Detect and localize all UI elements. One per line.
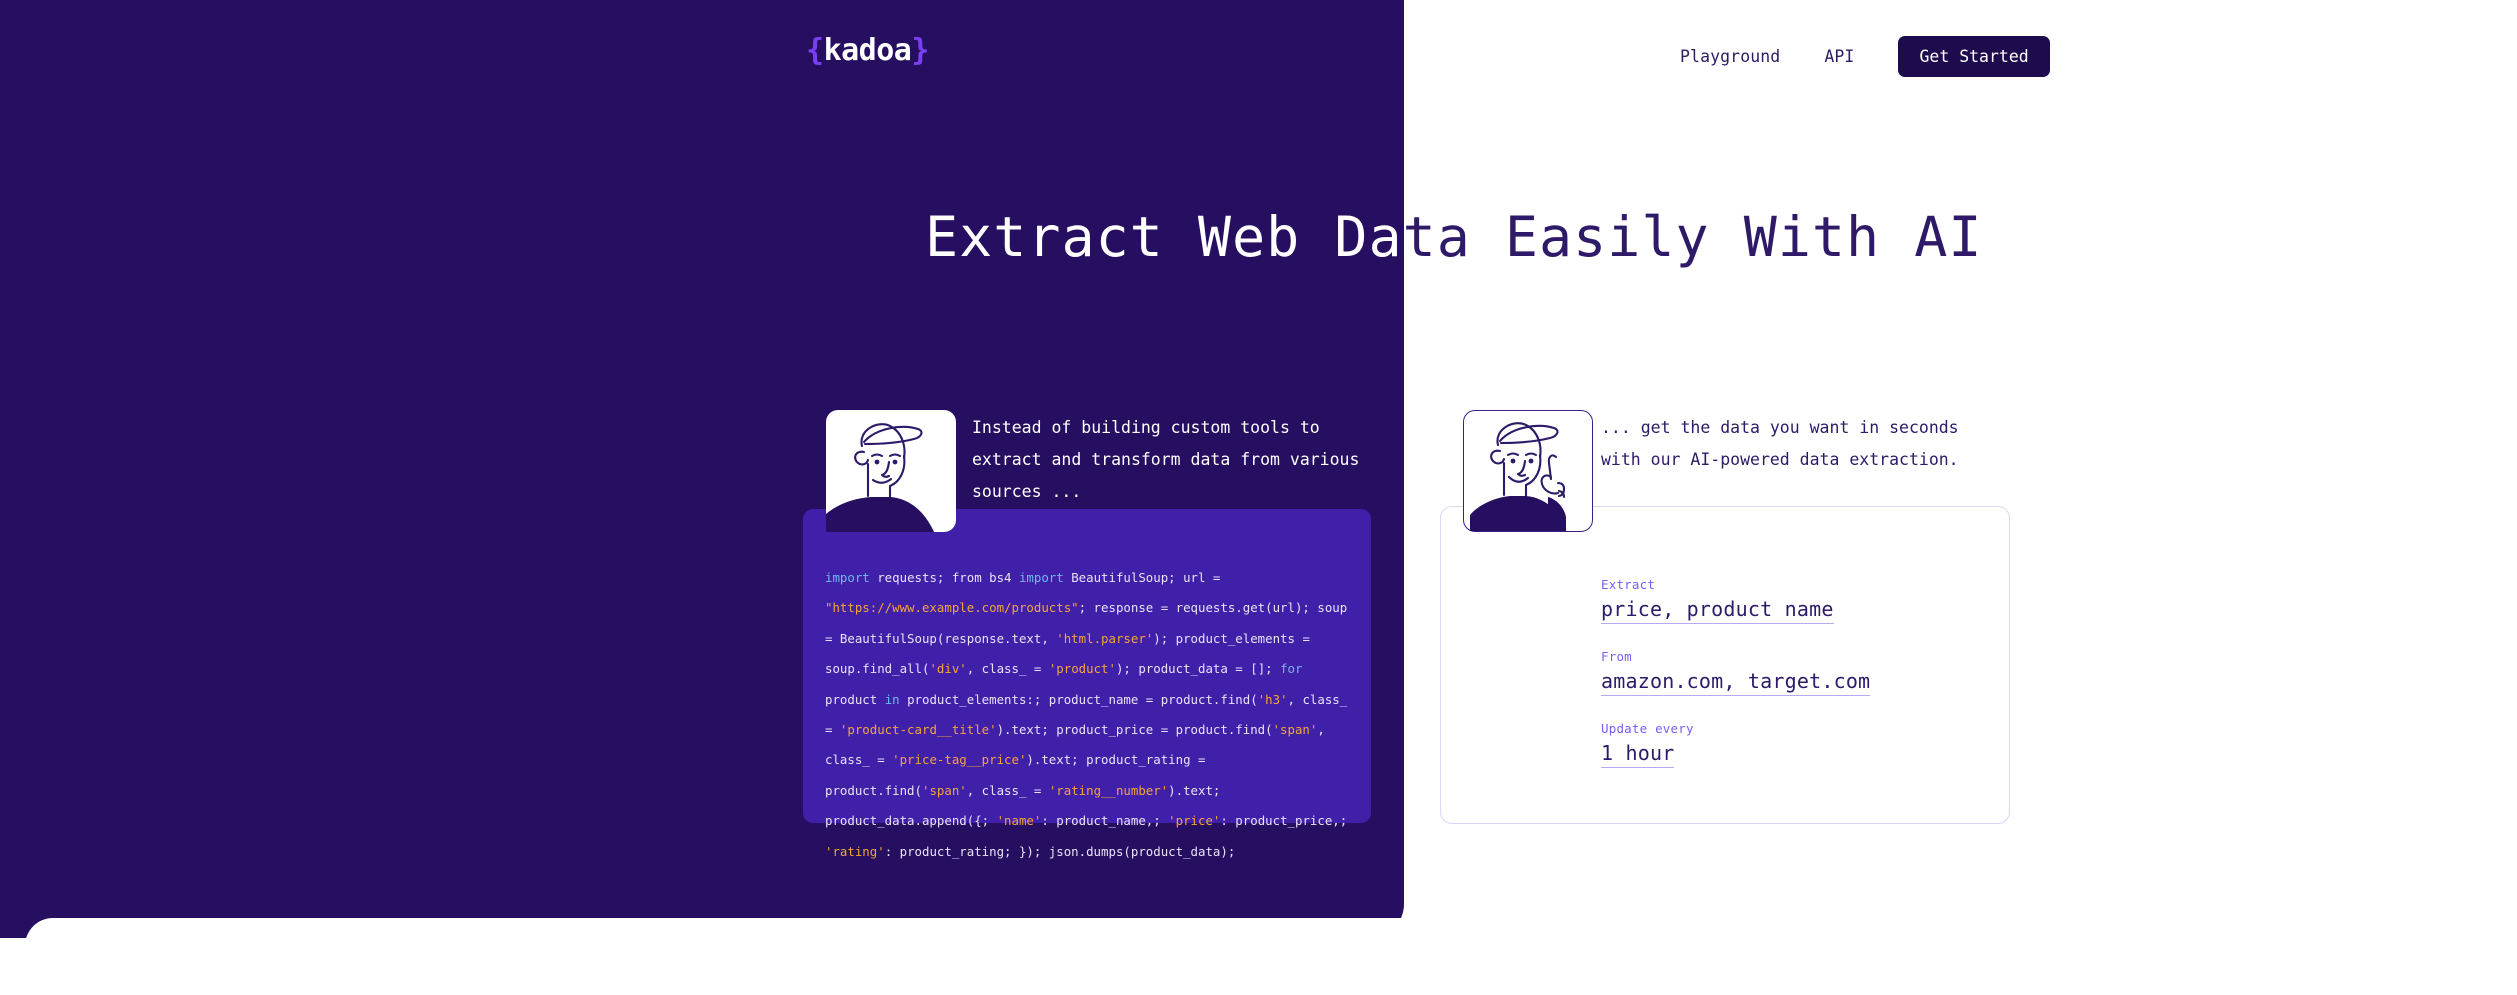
main-navigation: Playground API Get Started bbox=[1680, 36, 2050, 77]
after-caption: ... get the data you want in seconds wit… bbox=[1601, 412, 2001, 476]
before-panel: {kadoa} Extract Web Data Easily With AI bbox=[0, 0, 1404, 938]
get-started-button[interactable]: Get Started bbox=[1898, 36, 2049, 77]
nav-link-api[interactable]: API bbox=[1824, 47, 1854, 66]
field-extract: Extract price, product name bbox=[1601, 577, 1870, 624]
page-bottom-sheet bbox=[25, 918, 2517, 995]
code-snippet-text: import requests; from bs4 import Beautif… bbox=[825, 563, 1349, 867]
person-with-cap-neutral-icon bbox=[826, 410, 956, 532]
illustration-pointing bbox=[1463, 410, 1593, 532]
person-with-cap-pointing-icon bbox=[1464, 411, 1592, 531]
logo-close-brace: } bbox=[911, 33, 929, 68]
logo-text: kadoa bbox=[824, 33, 912, 68]
field-value-update-every[interactable]: 1 hour bbox=[1601, 741, 1674, 768]
field-label-update-every: Update every bbox=[1601, 721, 1870, 736]
field-label-extract: Extract bbox=[1601, 577, 1870, 592]
logo[interactable]: {kadoa} bbox=[806, 33, 929, 68]
page-title: Extract Web Data Easily With AI bbox=[925, 210, 1404, 265]
field-value-from[interactable]: amazon.com, target.com bbox=[1601, 669, 1870, 696]
code-snippet-panel: import requests; from bs4 import Beautif… bbox=[803, 509, 1371, 823]
nav-link-playground[interactable]: Playground bbox=[1680, 47, 1780, 66]
before-caption: Instead of building custom tools to extr… bbox=[972, 412, 1362, 509]
extraction-config-fields: Extract price, product name From amazon.… bbox=[1601, 577, 1870, 768]
illustration-neutral bbox=[826, 410, 956, 532]
field-from: From amazon.com, target.com bbox=[1601, 649, 1870, 696]
field-value-extract[interactable]: price, product name bbox=[1601, 597, 1834, 624]
field-label-from: From bbox=[1601, 649, 1870, 664]
field-update-every: Update every 1 hour bbox=[1601, 721, 1870, 768]
logo-open-brace: { bbox=[806, 33, 824, 68]
